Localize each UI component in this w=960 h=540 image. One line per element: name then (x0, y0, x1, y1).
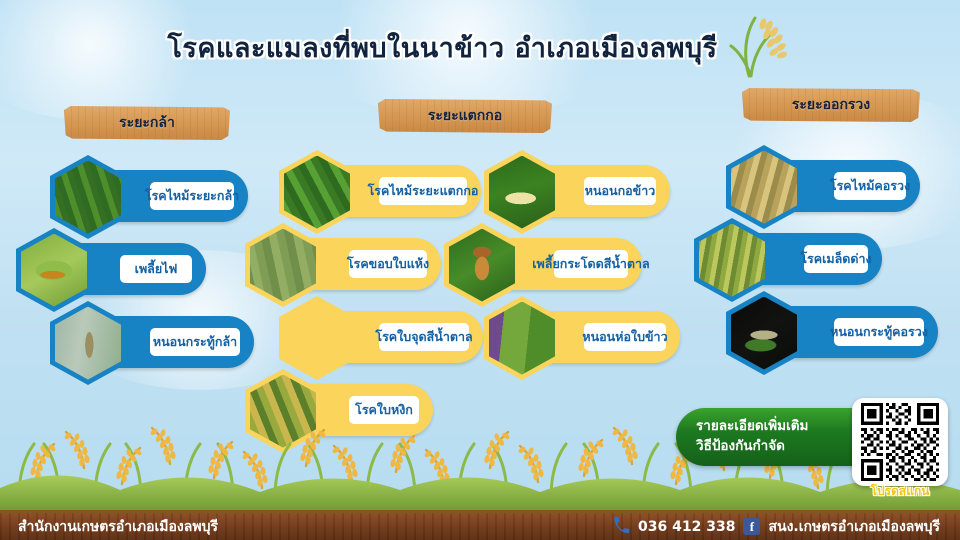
infographic-canvas: โรคและแมลงที่พบในนาข้าว อำเภอเมืองลพบุรี (0, 0, 960, 540)
stage-sign-seedling: ระยะกล้า (64, 106, 230, 140)
item-photo-hexagon[interactable] (484, 150, 560, 234)
qr-code[interactable] (852, 398, 948, 486)
dirty-panicle-photo (699, 224, 765, 297)
item-photo-hexagon[interactable] (726, 291, 802, 375)
item-label: โรคเมล็ดด่าง (800, 249, 871, 269)
item-label: โรคขอบใบแห้ง (347, 254, 429, 274)
item-photo-hexagon[interactable] (726, 145, 802, 229)
facebook-icon[interactable]: f (743, 518, 760, 535)
stage-sign-seedling-label: ระยะกล้า (119, 112, 175, 134)
item-label: โรคไหม้คอรวง (830, 176, 910, 196)
item-label: หนอนห่อใบข้าว (582, 327, 667, 347)
item-photo-hexagon[interactable] (694, 218, 770, 302)
item-photo-hexagon[interactable] (279, 150, 355, 234)
item-photo-hexagon[interactable] (484, 296, 560, 380)
footer-phone[interactable]: 036 412 338 (638, 519, 735, 535)
phone-icon (613, 516, 630, 537)
item-label: โรคไหม้ระยะแตกกอ (368, 181, 479, 201)
item-photo-hexagon[interactable] (50, 155, 126, 239)
item-photo-hexagon[interactable] (444, 223, 520, 307)
item-photo-hexagon[interactable] (50, 301, 126, 385)
page-title: โรคและแมลงที่พบในนาข้าว อำเภอเมืองลพบุรี (0, 12, 960, 82)
qr-caption: โปรดสแกน (852, 482, 948, 501)
item-label: เพลี้ยไฟ (135, 259, 178, 279)
rice-stem-borer-photo (489, 156, 555, 229)
page-title-text: โรคและแมลงที่พบในนาข้าว อำเภอเมืองลพบุรี (167, 26, 717, 69)
bacterial-leaf-blight-photo (250, 229, 316, 302)
item-label: โรคใบจุดสีน้ำตาล (375, 327, 472, 347)
footer-office-name: สำนักงานเกษตรอำเภอเมืองลพบุรี (18, 516, 218, 538)
item-photo-hexagon[interactable] (279, 296, 355, 380)
footer-bar: สำนักงานเกษตรอำเภอเมืองลพบุรี 036 412 33… (0, 510, 960, 540)
neck-armyworm-photo (731, 297, 797, 370)
rice-thrips-photo (21, 234, 87, 307)
seedling-armyworm-photo (55, 307, 121, 380)
rice-blast-tillering-photo (284, 156, 350, 229)
stage-sign-tillering-label: ระยะแตกกอ (428, 105, 502, 127)
footer-contact: 036 412 338 f สนง.เกษตรอำเภอเมืองลพบุรี (613, 516, 940, 538)
qr-code-image (857, 403, 943, 481)
item-label: หนอนกระทู้กล้า (153, 332, 237, 352)
item-photo-hexagon[interactable] (16, 228, 92, 312)
rice-leaffolder-photo (489, 302, 555, 375)
item-label: หนอนกอข้าว (585, 181, 656, 201)
footer-facebook-page[interactable]: สนง.เกษตรอำเภอเมืองลพบุรี (768, 516, 940, 538)
brown-spot-photo (284, 302, 350, 375)
rice-blast-seedling-photo (55, 161, 121, 234)
neck-blast-photo (731, 151, 797, 224)
item-photo-hexagon[interactable] (245, 223, 321, 307)
brown-planthopper-photo (449, 229, 515, 302)
item-label: หนอนกระทู้คอรวง (830, 322, 928, 342)
rice-plant-icon (729, 12, 793, 82)
stage-sign-heading-label: ระยะออกรวง (792, 94, 870, 116)
item-label: เพลี้ยกระโดดสีน้ำตาล (532, 254, 649, 274)
item-label: โรคไหม้ระยะกล้า (145, 186, 239, 206)
stage-sign-heading: ระยะออกรวง (742, 88, 920, 122)
stage-sign-tillering: ระยะแตกกอ (378, 99, 552, 133)
